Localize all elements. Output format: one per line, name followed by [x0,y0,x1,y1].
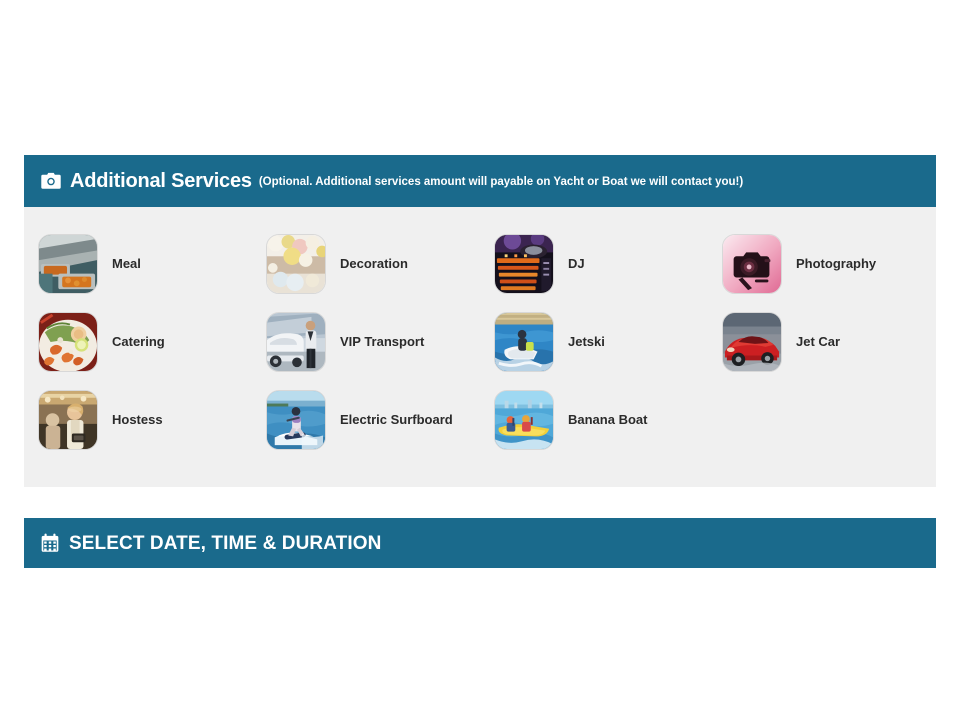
service-item-hostess[interactable]: Hostess [24,381,252,459]
service-label: Hostess [112,412,163,428]
service-item-meal[interactable]: Meal [24,225,252,303]
calendar-icon [40,533,60,553]
service-label: Electric Surfboard [340,412,453,428]
service-item-banana-boat[interactable]: Banana Boat [480,381,708,459]
booking-page: Additional Services (Optional. Additiona… [0,0,960,720]
date-bar-title: SELECT DATE, TIME & DURATION [69,534,381,553]
service-item-decoration[interactable]: Decoration [252,225,480,303]
panel-subtitle: (Optional. Additional services amount wi… [259,177,743,189]
service-item-catering[interactable]: Catering [24,303,252,381]
service-row: Catering [24,303,936,381]
service-label: VIP Transport [340,334,424,350]
seafood-platter-thumbnail [38,312,98,372]
service-item-vip-transport[interactable]: VIP Transport [252,303,480,381]
additional-services-list: Meal [24,207,936,487]
service-item-electric-surfboard[interactable]: Electric Surfboard [252,381,480,459]
service-item-empty [708,381,936,459]
camera-silhouette-pink-thumbnail [722,234,782,294]
service-item-dj[interactable]: DJ [480,225,708,303]
banana-boat-riders-thumbnail [494,390,554,450]
dj-mixing-console-thumbnail [494,234,554,294]
service-label: Meal [112,256,141,272]
jetski-on-water-thumbnail [494,312,554,372]
panel-title: Additional Services [70,171,252,191]
hostess-woman-interior-thumbnail [38,390,98,450]
service-row: Meal [24,225,936,303]
service-label: Banana Boat [568,412,647,428]
service-label: Catering [112,334,165,350]
service-row: Hostess [24,381,936,459]
surfer-on-water-thumbnail [266,390,326,450]
balloons-decoration-thumbnail [266,234,326,294]
service-label: Jetski [568,334,605,350]
service-label: DJ [568,256,585,272]
service-item-jetski[interactable]: Jetski [480,303,708,381]
service-item-jet-car[interactable]: Jet Car [708,303,936,381]
camera-icon [40,170,62,192]
service-label: Decoration [340,256,408,272]
additional-services-panel: Additional Services (Optional. Additiona… [24,155,936,487]
red-sports-car-thumbnail [722,312,782,372]
service-item-photography[interactable]: Photography [708,225,936,303]
additional-services-header: Additional Services (Optional. Additiona… [24,155,936,207]
service-label: Photography [796,256,876,272]
white-car-chauffeur-thumbnail [266,312,326,372]
select-date-time-duration-header: SELECT DATE, TIME & DURATION [24,518,936,568]
buffet-food-trays-thumbnail [38,234,98,294]
service-label: Jet Car [796,334,840,350]
